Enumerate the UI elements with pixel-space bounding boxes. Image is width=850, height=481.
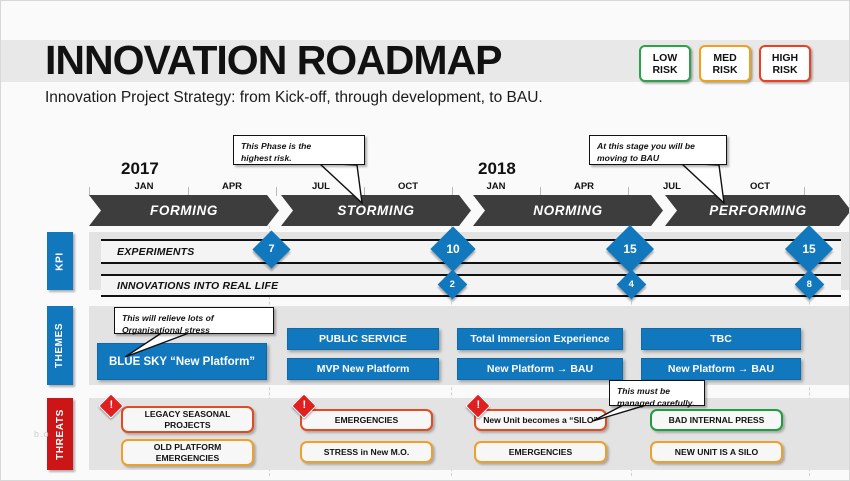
threat-box[interactable]: New Unit becomes a “SILO” bbox=[474, 409, 607, 431]
kpi-row-innovations: INNOVATIONS INTO REAL LIFE bbox=[101, 274, 841, 297]
page-subtitle: Innovation Project Strategy: from Kick-o… bbox=[45, 89, 543, 107]
callout-2-tail bbox=[581, 161, 741, 206]
callout-bau-stage: At this stage you will be moving to BAU bbox=[589, 135, 727, 165]
page-title: INNOVATION ROADMAP bbox=[45, 38, 502, 83]
theme-box[interactable]: New Platform → BAU bbox=[457, 358, 623, 380]
theme-box-label: New Platform → BAU bbox=[668, 363, 774, 375]
kpi-marker-value: 15 bbox=[792, 243, 826, 255]
section-tab-threats-label: THREATS bbox=[55, 409, 66, 460]
legend-high-risk-line1: HIGH bbox=[772, 52, 798, 64]
month-label: OCT bbox=[388, 181, 428, 192]
legend-low-risk-line2: RISK bbox=[652, 64, 677, 76]
threat-box[interactable]: EMERGENCIES bbox=[300, 409, 433, 431]
callout-4-line2: managed carefully. bbox=[617, 398, 697, 410]
threat-box-label: EMERGENCIES bbox=[335, 415, 399, 426]
section-tab-threats[interactable]: THREATS bbox=[47, 398, 73, 470]
kpi-marker-value: 15 bbox=[613, 243, 647, 255]
year-2018: 2018 bbox=[478, 159, 516, 179]
legend-low-risk: LOW RISK bbox=[639, 45, 691, 82]
theme-box[interactable]: Total Immersion Experience bbox=[457, 328, 623, 350]
callout-2-line2: moving to BAU bbox=[597, 153, 719, 165]
callout-manage-carefully: This must be managed carefully. bbox=[609, 380, 705, 406]
callout-org-stress: This will relieve lots of Organisational… bbox=[114, 307, 274, 334]
month-label: OCT bbox=[740, 181, 780, 192]
threat-box-label: LEGACY SEASONAL PROJECTS bbox=[127, 409, 248, 431]
legend-high-risk: HIGH RISK bbox=[759, 45, 811, 82]
month-label: JAN bbox=[476, 181, 516, 192]
kpi-row-experiments-label: EXPERIMENTS bbox=[101, 246, 194, 258]
threat-box-label: New Unit becomes a “SILO” bbox=[483, 415, 598, 426]
section-tab-kpi-label: KPI bbox=[54, 252, 65, 270]
theme-box-label: PUBLIC SERVICE bbox=[319, 333, 407, 345]
threat-box-label: EMERGENCIES bbox=[509, 447, 573, 458]
theme-box-label: TBC bbox=[710, 333, 732, 345]
risk-legend: LOW RISK MED RISK HIGH RISK bbox=[639, 45, 811, 82]
legend-low-risk-line1: LOW bbox=[653, 52, 678, 64]
section-tab-kpi[interactable]: KPI bbox=[47, 232, 73, 290]
legend-med-risk: MED RISK bbox=[699, 45, 751, 82]
threat-box[interactable]: STRESS in New M.O. bbox=[300, 441, 433, 463]
theme-box-label: New Platform → BAU bbox=[487, 363, 593, 375]
kpi-marker-value: 7 bbox=[258, 244, 285, 255]
theme-box-label: Total Immersion Experience bbox=[470, 333, 609, 345]
watermark: b.o bbox=[34, 429, 50, 439]
callout-1-line2: highest risk. bbox=[241, 153, 357, 165]
theme-box[interactable]: PUBLIC SERVICE bbox=[287, 328, 439, 350]
threat-box[interactable]: OLD PLATFORM EMERGENCIES bbox=[121, 439, 254, 466]
theme-box[interactable]: MVP New Platform bbox=[287, 358, 439, 380]
kpi-marker-value: 4 bbox=[621, 280, 642, 290]
theme-box-label: MVP New Platform bbox=[317, 363, 410, 375]
legend-high-risk-line2: RISK bbox=[772, 64, 797, 76]
callout-2-line1: At this stage you will be bbox=[597, 141, 719, 153]
threat-box-label: NEW UNIT IS A SILO bbox=[675, 447, 758, 458]
callout-1-line1: This Phase is the bbox=[241, 141, 357, 153]
kpi-row-innovations-label: INNOVATIONS INTO REAL LIFE bbox=[101, 280, 278, 292]
threat-box[interactable]: LEGACY SEASONAL PROJECTS bbox=[121, 406, 254, 433]
theme-box[interactable]: TBC bbox=[641, 328, 801, 350]
legend-med-risk-line2: RISK bbox=[712, 64, 737, 76]
kpi-marker-value: 2 bbox=[442, 280, 463, 290]
kpi-marker-value: 10 bbox=[437, 243, 469, 255]
callout-4-line1: This must be bbox=[617, 386, 697, 398]
section-tab-themes[interactable]: THEMES bbox=[47, 306, 73, 385]
threat-box[interactable]: EMERGENCIES bbox=[474, 441, 607, 463]
theme-box[interactable]: New Platform → BAU bbox=[641, 358, 801, 380]
callout-3-line1: This will relieve lots of bbox=[122, 313, 266, 325]
callout-3-line2: Organisational stress bbox=[122, 325, 266, 337]
threat-box[interactable]: NEW UNIT IS A SILO bbox=[650, 441, 783, 463]
section-tab-themes-label: THEMES bbox=[55, 323, 66, 368]
legend-med-risk-line1: MED bbox=[713, 52, 736, 64]
callout-phase-risk: This Phase is the highest risk. bbox=[233, 135, 365, 165]
phase-forming-label: FORMING bbox=[150, 203, 218, 218]
kpi-marker-value: 8 bbox=[799, 280, 820, 290]
threat-box-label: STRESS in New M.O. bbox=[324, 447, 409, 458]
callout-1-tail bbox=[231, 161, 371, 206]
threat-box-label: OLD PLATFORM EMERGENCIES bbox=[127, 442, 248, 464]
month-label: JAN bbox=[124, 181, 164, 192]
roadmap-slide: INNOVATION ROADMAP Innovation Project St… bbox=[0, 0, 850, 481]
year-2017: 2017 bbox=[121, 159, 159, 179]
